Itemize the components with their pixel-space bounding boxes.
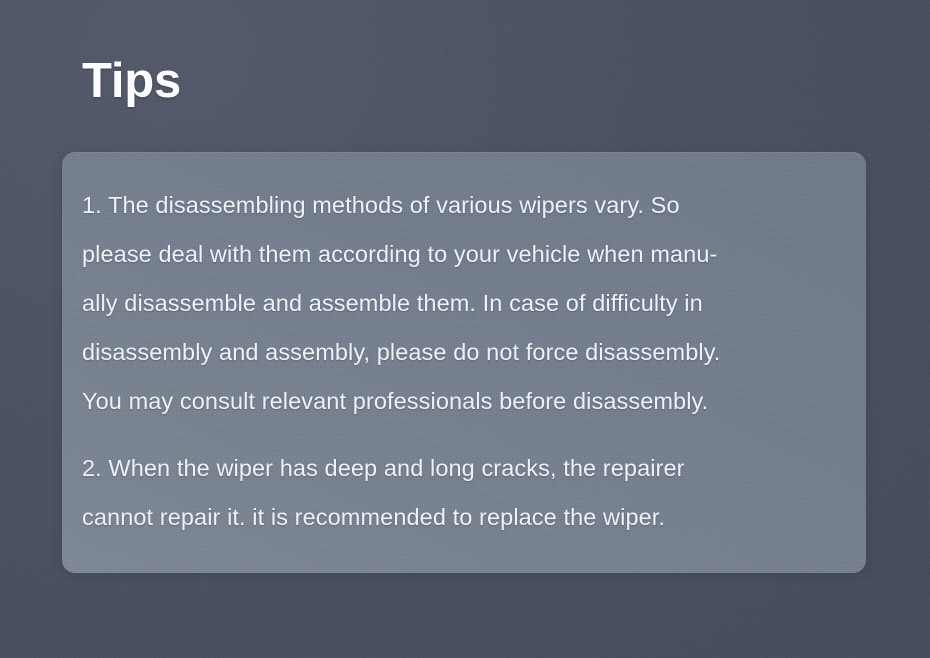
tip-paragraph-1-line-5: You may consult relevant professionals b… (82, 377, 848, 426)
page-background: Tips 1. The disassembling methods of var… (0, 0, 930, 658)
tip-paragraph-1-line-2: please deal with them according to your … (82, 230, 848, 279)
tip-paragraph-1-line-4: disassembly and assembly, please do not … (82, 328, 848, 377)
tips-card: 1. The disassembling methods of various … (62, 152, 866, 573)
page-title: Tips (82, 52, 181, 110)
tip-paragraph-1-line-3: ally disassemble and assemble them. In c… (82, 279, 848, 328)
tips-text-body: 1. The disassembling methods of various … (82, 181, 848, 542)
tip-paragraph-2: 2. When the wiper has deep and long crac… (82, 444, 848, 542)
tip-paragraph-2-line-1: 2. When the wiper has deep and long crac… (82, 444, 848, 493)
tip-paragraph-2-line-2: cannot repair it. it is recommended to r… (82, 493, 848, 542)
tip-paragraph-1: 1. The disassembling methods of various … (82, 181, 848, 426)
tip-paragraph-1-line-1: 1. The disassembling methods of various … (82, 181, 848, 230)
